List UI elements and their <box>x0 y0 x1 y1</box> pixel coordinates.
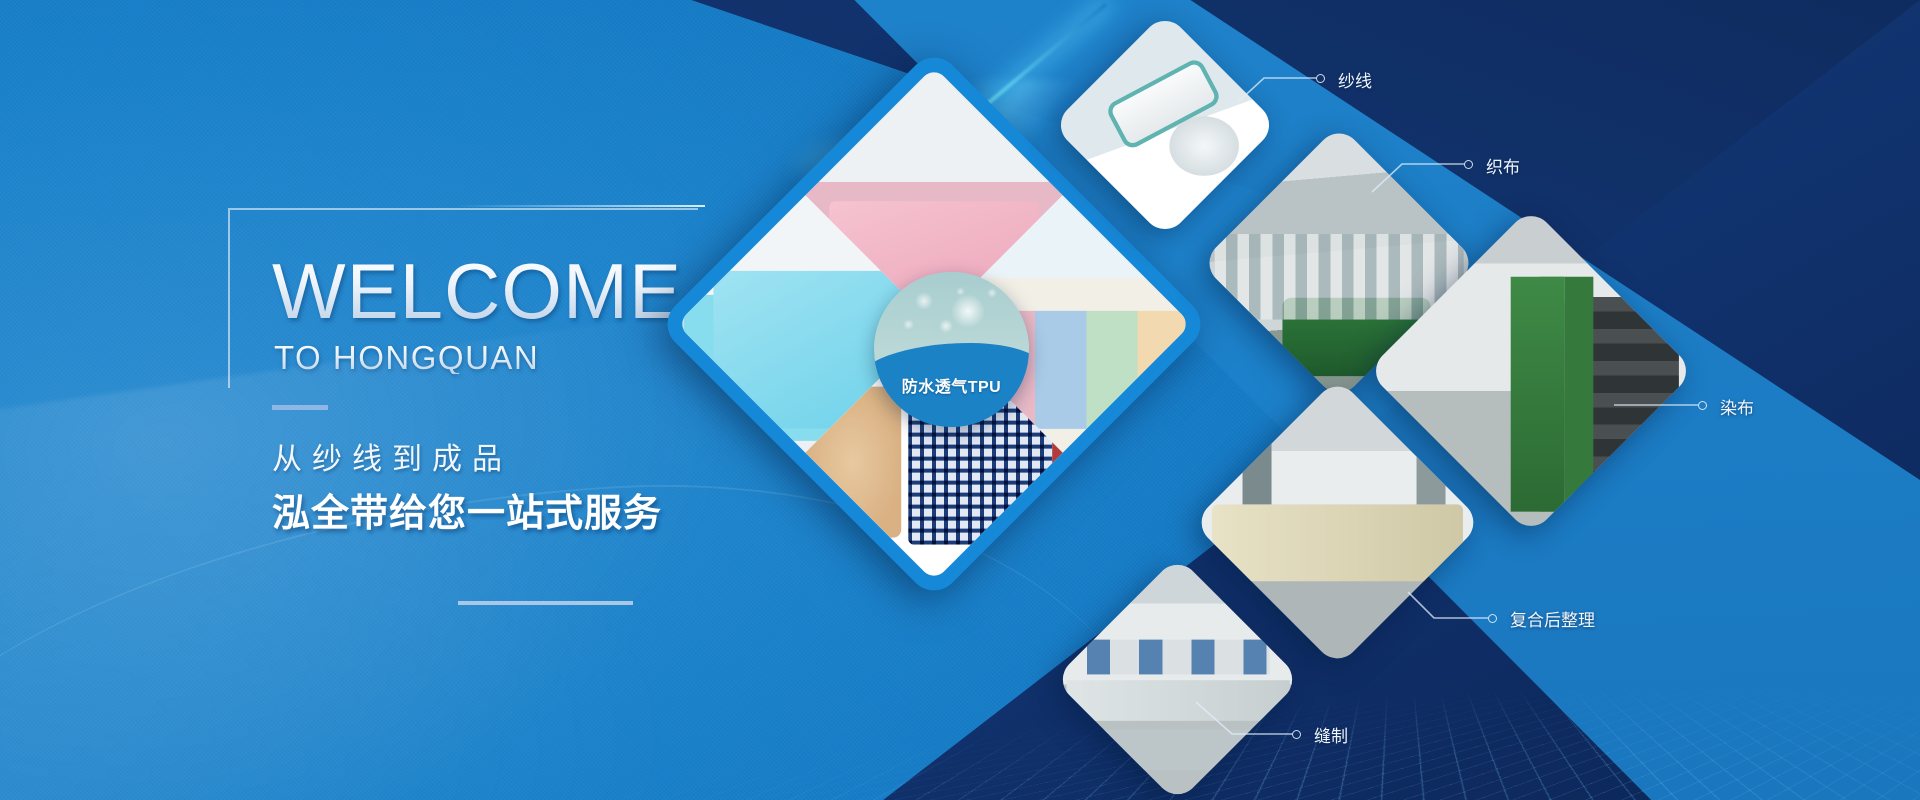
callout-dot-icon <box>1488 614 1497 623</box>
callout-leader-line <box>1196 700 1376 756</box>
callout-dot-icon <box>1464 160 1473 169</box>
tpu-badge[interactable]: 防水透气TPU <box>874 272 1029 427</box>
page-subtitle: TO HONGQUAN <box>274 341 539 374</box>
callout-label-laminating: 复合后整理 <box>1510 606 1595 631</box>
hero-banner: WELCOME TO HONGQUAN 从纱线到成品 泓全带给您一站式服务 防水… <box>0 0 1920 800</box>
slogan: 泓全带给您一站式服务 <box>272 492 662 536</box>
bottom-divider <box>458 601 633 605</box>
callout-laminating: 复合后整理 <box>1408 590 1728 642</box>
callout-dot-icon <box>1292 730 1301 739</box>
callout-sewing: 缝制 <box>1196 700 1496 756</box>
headline-block: WELCOME TO HONGQUAN 从纱线到成品 泓全带给您一站式服务 <box>0 0 760 800</box>
tpu-badge-label: 防水透气TPU <box>874 373 1029 397</box>
callout-weaving: 织布 <box>1372 142 1652 198</box>
callout-yarn: 纱线 <box>1238 60 1498 110</box>
callout-dyeing: 染布 <box>1614 392 1894 422</box>
callout-label-yarn: 纱线 <box>1338 67 1372 92</box>
tagline: 从纱线到成品 <box>272 443 512 477</box>
callout-dot-icon <box>1698 401 1707 410</box>
callout-label-weaving: 织布 <box>1486 153 1520 178</box>
title-divider <box>272 405 328 410</box>
callout-label-sewing: 缝制 <box>1314 722 1348 747</box>
callout-dot-icon <box>1316 74 1325 83</box>
callout-leader-line <box>1372 142 1582 198</box>
callout-leader-line <box>1614 392 1734 422</box>
callout-label-dyeing: 染布 <box>1720 394 1754 419</box>
page-title: WELCOME <box>272 252 682 330</box>
